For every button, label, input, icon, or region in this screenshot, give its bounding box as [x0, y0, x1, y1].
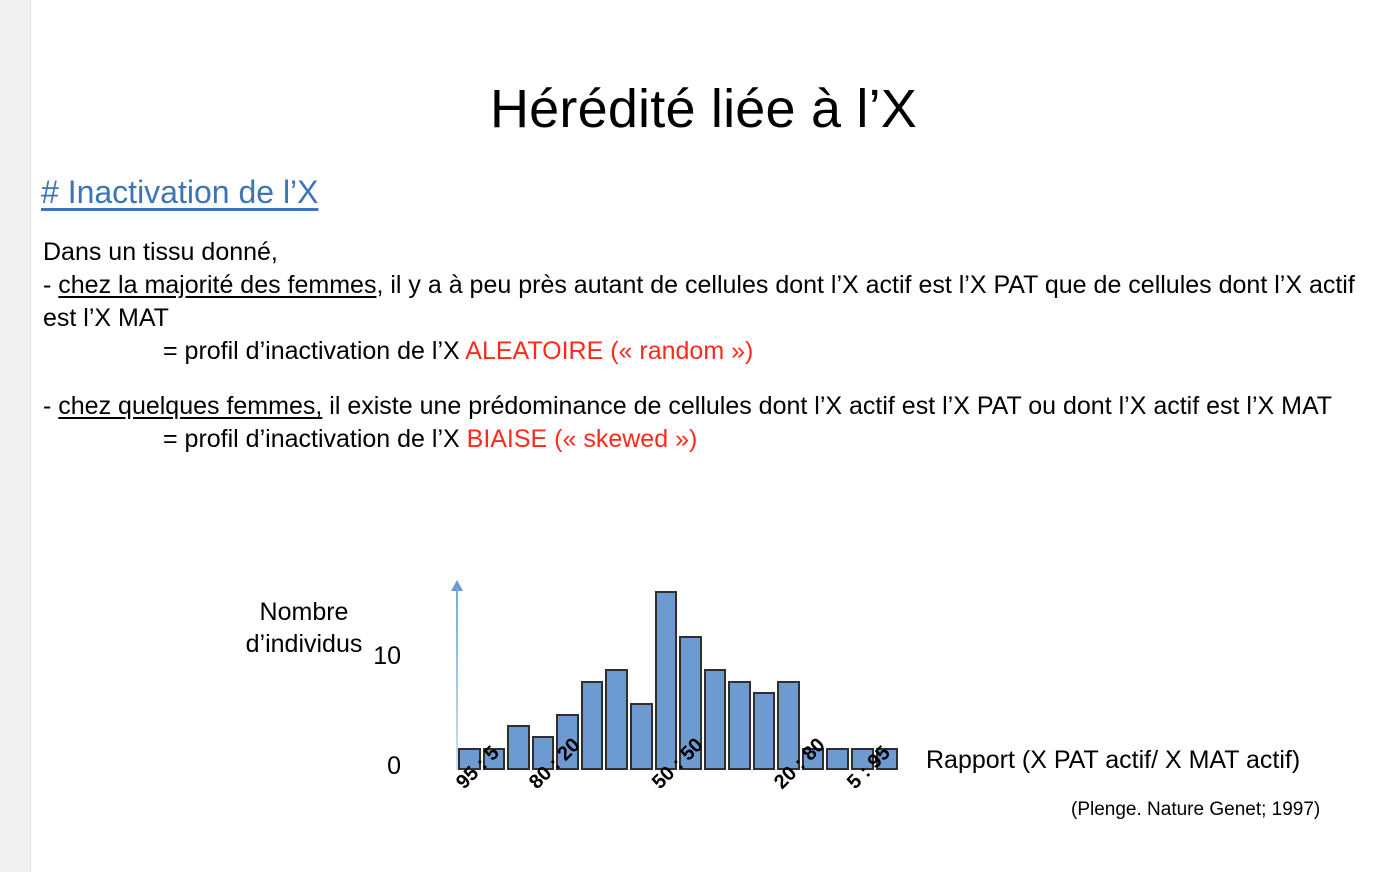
bar-series	[458, 580, 898, 770]
body-conclusion-2: = profil d’inactivation de l’X BIAISE («…	[43, 423, 1373, 456]
bar	[826, 748, 849, 770]
body-spacer	[43, 368, 1373, 390]
source-citation: (Plenge. Nature Genet; 1997)	[1071, 798, 1320, 822]
body-paragraph-1: - chez la majorité des femmes, il y a à …	[43, 269, 1373, 335]
bar	[655, 591, 678, 770]
para1-conclusion-prefix: = profil d’inactivation de l’X	[163, 337, 465, 365]
y-tick-label-10: 10	[341, 644, 401, 669]
bar	[728, 681, 751, 770]
para2-conclusion-highlight: BIAISE (« skewed »)	[467, 425, 698, 453]
x-axis-caption: Rapport (X PAT actif/ X MAT actif)	[926, 745, 1300, 775]
chart-plot-area	[458, 580, 898, 770]
para2-rest-text: il existe une prédominance de cellules d…	[322, 392, 1332, 420]
bullet-dash-2: -	[43, 392, 58, 420]
body-conclusion-1: = profil d’inactivation de l’X ALEATOIRE…	[43, 335, 1373, 368]
bullet-dash-1: -	[43, 271, 58, 299]
para2-conclusion-prefix: = profil d’inactivation de l’X	[163, 425, 467, 453]
slide-body: Dans un tissu donné, - chez la majorité …	[43, 236, 1373, 456]
para2-underlined-phrase: chez quelques femmes,	[58, 392, 322, 420]
body-paragraph-2: - chez quelques femmes, il existe une pr…	[43, 390, 1373, 423]
para1-conclusion-highlight: ALEATOIRE (« random »)	[465, 337, 753, 365]
bar	[704, 669, 727, 770]
bar	[630, 703, 653, 770]
bar	[605, 669, 628, 770]
y-tick-label-0: 0	[341, 754, 401, 779]
bar	[507, 725, 530, 770]
bar	[581, 681, 604, 770]
body-intro-line: Dans un tissu donné,	[43, 236, 1373, 269]
para1-underlined-phrase: chez la majorité des femmes	[58, 271, 376, 299]
slide-canvas: Hérédité liée à l’X # Inactivation de l’…	[31, 0, 1376, 872]
section-heading: # Inactivation de l’X	[41, 172, 319, 212]
bar	[753, 692, 776, 770]
x-axis-tick-labels: 95 : 580 : 2050 : 5020 : 805 : 95	[458, 772, 908, 862]
histogram-chart: Nombre d’individus 10 0 95 : 580 : 2050 …	[31, 560, 1376, 872]
slide-left-gutter	[0, 0, 30, 872]
page-title: Hérédité liée à l’X	[31, 78, 1376, 140]
body-intro-text: Dans un tissu donné,	[43, 238, 278, 266]
